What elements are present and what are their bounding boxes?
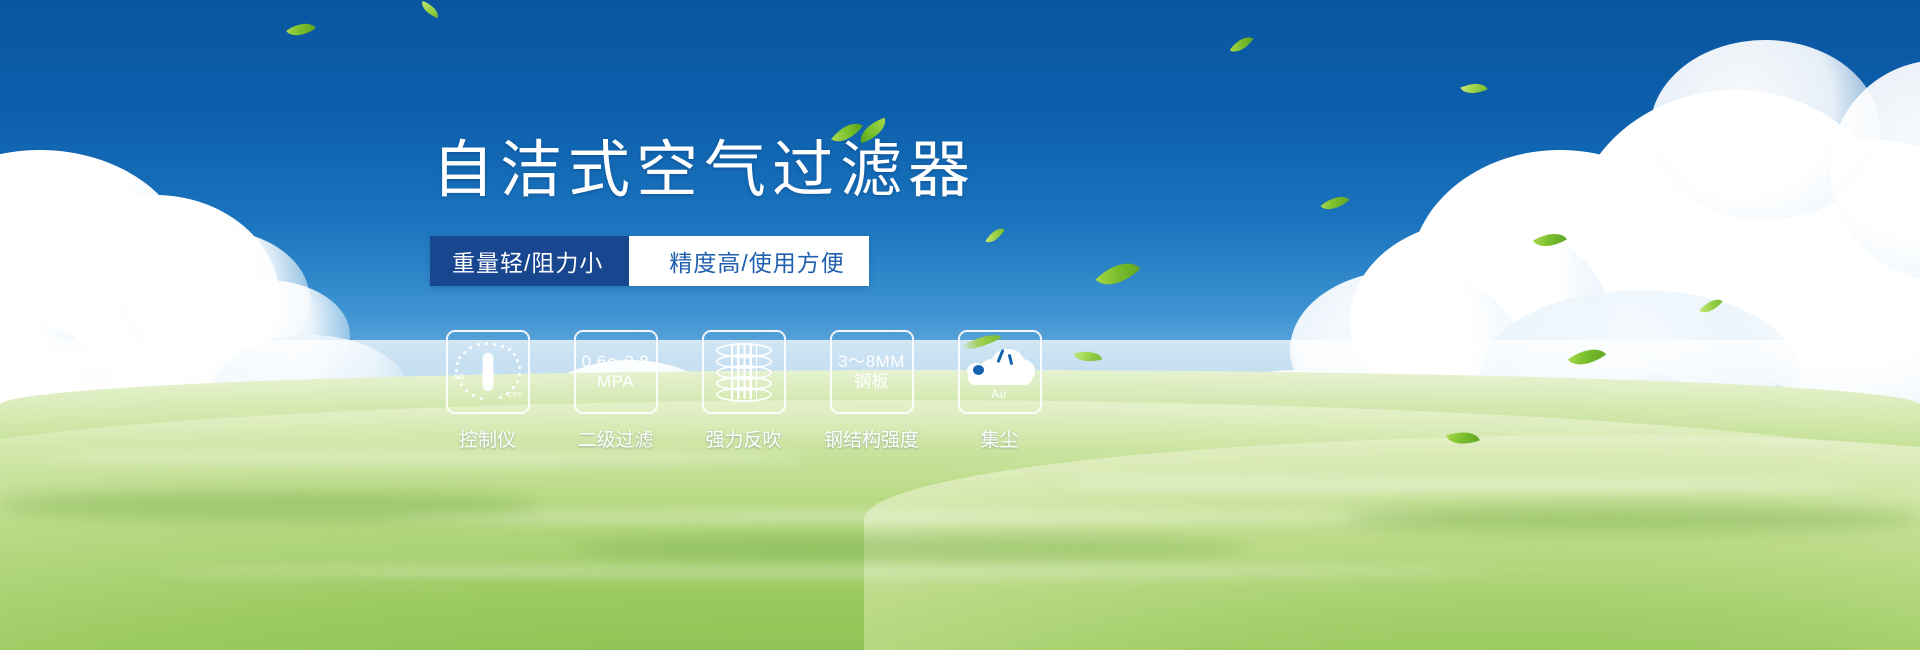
dial-label-on: NO (454, 374, 465, 381)
pressure-unit: MPA (582, 372, 650, 392)
air-label: Air (965, 387, 1035, 401)
tag-divider (629, 236, 663, 286)
tag-primary: 重量轻/阻力小 (430, 236, 629, 286)
dial-label-off: OFF (508, 392, 523, 399)
steel-plate-text-icon: 3～8MM 钢板 (838, 352, 905, 393)
feature-item-dust: Air 集尘 (948, 330, 1051, 452)
banner-content: 自洁式空气过滤器 重量轻/阻力小 精度高/使用方便 (0, 0, 1920, 650)
hero-banner: 自洁式空气过滤器 重量轻/阻力小 精度高/使用方便 (0, 0, 1920, 650)
feature-item-blowback: 强力反吹 (692, 330, 795, 452)
tag-secondary: 精度高/使用方便 (663, 236, 868, 286)
title-leaf-decoration (832, 110, 902, 158)
feature-box: 3～8MM 钢板 (830, 330, 914, 414)
feature-tag-bar: 重量轻/阻力小 精度高/使用方便 (430, 236, 869, 286)
air-cloud-icon: Air (965, 341, 1035, 403)
feature-box: NO OFF (446, 330, 530, 414)
feature-box: Air (958, 330, 1042, 414)
steel-thickness: 3～8MM (838, 352, 905, 372)
pressure-value: 0.6～0.8 (582, 352, 650, 372)
feature-item-control: NO OFF 控制仪 (436, 330, 539, 452)
control-dial-icon: NO OFF (455, 341, 521, 403)
feature-caption: 集尘 (980, 425, 1018, 452)
feature-box (702, 330, 786, 414)
coil-blowback-icon (715, 341, 773, 403)
feature-box: 0.6～0.8 MPA (574, 330, 658, 414)
steel-material: 钢板 (838, 372, 905, 392)
feature-icon-row: NO OFF 控制仪 0.6～0.8 MPA 二级过滤 (436, 330, 1051, 452)
feature-caption: 控制仪 (459, 425, 516, 452)
feature-item-steel: 3～8MM 钢板 钢结构强度 (820, 330, 923, 452)
feature-caption: 钢结构强度 (824, 425, 919, 452)
feature-caption: 二级过滤 (577, 425, 653, 452)
pressure-text-icon: 0.6～0.8 MPA (582, 352, 650, 393)
feature-caption: 强力反吹 (705, 425, 781, 452)
feature-item-pressure: 0.6～0.8 MPA 二级过滤 (564, 330, 667, 452)
